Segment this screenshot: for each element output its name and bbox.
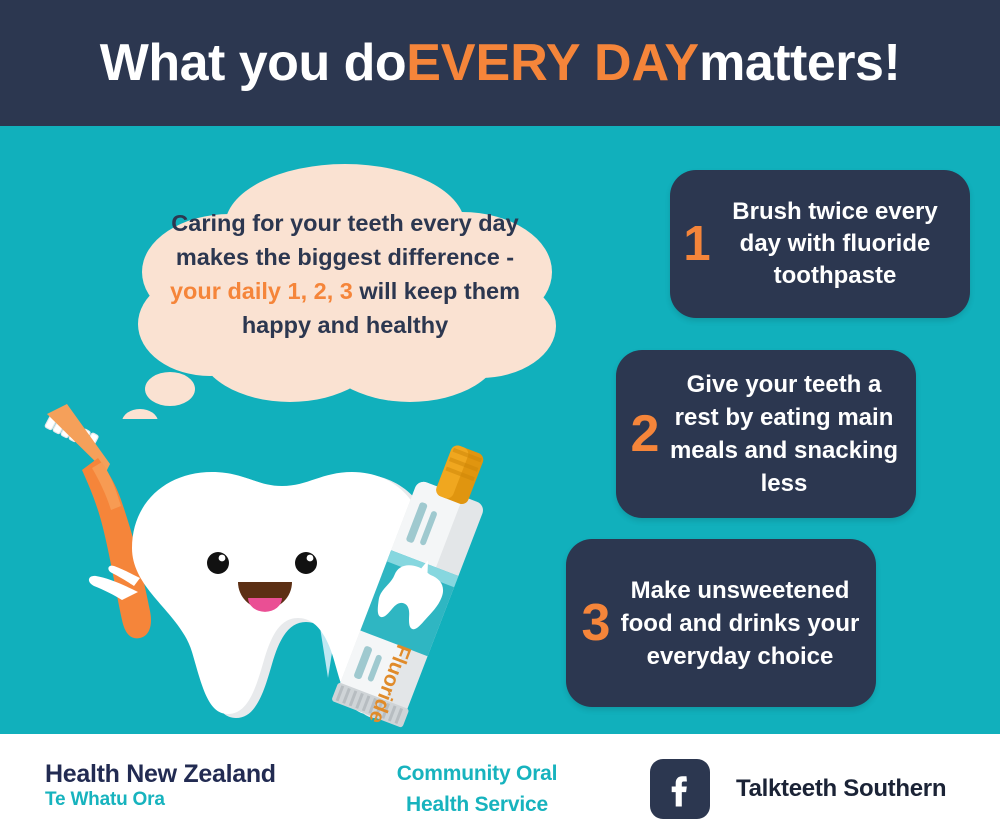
hnz-name-mi: Te Whatu Ora <box>45 788 276 812</box>
dental-illustration: Fluoride <box>10 396 550 734</box>
hnz-name-en: Health New Zealand <box>45 760 276 788</box>
tip-number-2: 2 <box>626 408 664 460</box>
tip-text-2: Give your teeth a rest by eating main me… <box>664 368 904 500</box>
page-title-part1: What you do <box>100 33 406 93</box>
community-oral-health-service-label: Community Oral Health Service <box>372 758 582 820</box>
page-title-part2: matters! <box>699 33 900 93</box>
tip-text-3: Make unsweetened food and drinks your ev… <box>616 574 864 673</box>
toothbrush-icon <box>45 404 151 638</box>
facebook-block[interactable]: Talkteeth Southern <box>650 759 946 819</box>
thought-bubble-text: Caring for your teeth every day makes th… <box>148 206 542 342</box>
bubble-line-3-prefix: difference - <box>387 244 514 270</box>
page-title: What you do EVERY DAY matters! <box>0 0 1000 126</box>
tip-number-3: 3 <box>576 597 616 649</box>
poster-root: What you do EVERY DAY matters! <box>0 0 1000 838</box>
cohs-line-1: Community Oral <box>372 758 582 789</box>
bubble-line-1: Caring for your teeth <box>171 210 403 236</box>
health-new-zealand-logo: Health New Zealand Te Whatu Ora <box>45 760 276 812</box>
tip-card-1[interactable]: 1 Brush twice every day with fluoride to… <box>670 170 970 318</box>
facebook-handle: Talkteeth Southern <box>736 775 946 803</box>
thought-bubble: Caring for your teeth every day makes th… <box>110 154 580 419</box>
main-content-area: Caring for your teeth every day makes th… <box>0 126 1000 734</box>
tip-card-3[interactable]: 3 Make unsweetened food and drinks your … <box>566 539 876 707</box>
tip-number-1: 1 <box>680 220 714 269</box>
tip-card-2[interactable]: 2 Give your teeth a rest by eating main … <box>616 350 916 518</box>
bubble-line-3-emphasis: your daily 1, 2, 3 <box>170 278 353 304</box>
bubble-line-5: healthy <box>366 312 448 338</box>
tip-text-1: Brush twice every day with fluoride toot… <box>714 196 956 292</box>
header-banner: What you do EVERY DAY matters! <box>0 0 1000 126</box>
footer-bar: Health New Zealand Te Whatu Ora Communit… <box>0 734 1000 838</box>
facebook-icon[interactable] <box>650 759 710 819</box>
page-title-emphasis: EVERY DAY <box>406 33 699 93</box>
cohs-line-2: Health Service <box>372 789 582 820</box>
